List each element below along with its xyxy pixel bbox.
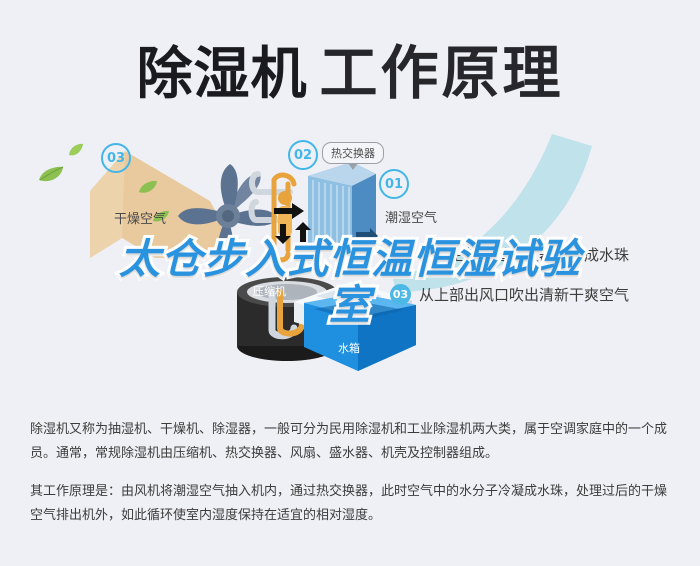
diagram-callout-heat-exchanger: 热交换器 xyxy=(322,142,384,164)
page-root: 除湿机工作原理 xyxy=(0,0,700,566)
airflow-arrows-icon xyxy=(272,196,312,244)
legend-item: 02 潮湿空气经过蒸发器冷凝成水珠 xyxy=(390,243,690,265)
diagram-badge-01: 01 xyxy=(379,169,409,199)
diagram-badge-03: 03 xyxy=(101,143,131,173)
diagram-badge-02: 02 xyxy=(288,140,318,170)
leaf-icon xyxy=(138,180,158,195)
heat-exchanger-block-icon xyxy=(300,158,380,263)
leaf-icon xyxy=(38,166,64,184)
legend-badge: 03 xyxy=(390,284,411,305)
diagram-label-dry-air: 干燥空气 xyxy=(114,208,166,227)
title-part-2: 工作原理 xyxy=(319,39,563,107)
body-paragraph-1: 除湿机又称为抽湿机、干燥机、除湿器，一般可分为民用除湿机和工业除湿机两大类，属于… xyxy=(30,418,675,466)
legend-badge: 02 xyxy=(390,244,411,265)
title-part-1: 除湿机 xyxy=(136,42,307,107)
legend-item: 03 从上部出风口吹出清新干爽空气 xyxy=(390,283,690,305)
legend-text: 潮湿空气经过蒸发器冷凝成水珠 xyxy=(419,244,629,265)
legend-list: 02 潮湿空气经过蒸发器冷凝成水珠 03 从上部出风口吹出清新干爽空气 xyxy=(390,243,690,323)
page-title: 除湿机工作原理 xyxy=(0,26,700,110)
leaf-icon xyxy=(68,143,84,157)
article-body: 除湿机又称为抽湿机、干燥机、除湿器，一般可分为民用除湿机和工业除湿机两大类，属于… xyxy=(30,418,675,542)
diagram-label-humid-air: 潮湿空气 xyxy=(385,207,437,226)
diagram-label-compressor: 压缩机 xyxy=(253,283,286,299)
legend-text: 从上部出风口吹出清新干爽空气 xyxy=(419,284,629,305)
diagram-label-water-tank: 水箱 xyxy=(338,340,360,356)
body-paragraph-2: 其工作原理是：由风机将潮湿空气抽入机内，通过热交换器，此时空气中的水分子冷凝成水… xyxy=(30,480,675,528)
